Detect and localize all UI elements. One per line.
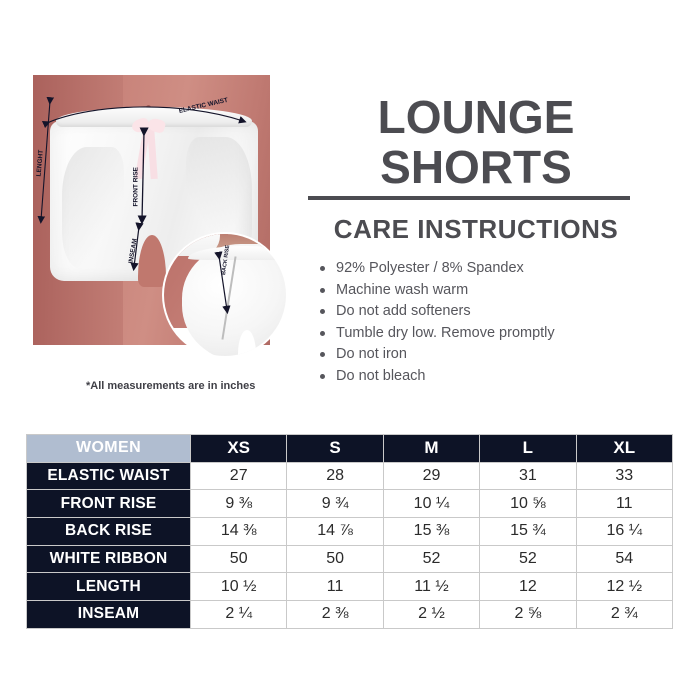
bullet-icon: [320, 331, 325, 336]
care-item-text: Machine wash warm: [336, 282, 468, 298]
table-row: FRONT RISE9 ⅜9 ¾10 ¼10 ⅝11: [27, 490, 673, 518]
cell-xl: 2 ¾: [576, 601, 672, 629]
back-rise-inset: BACK RISE: [164, 234, 286, 356]
cell-m: 15 ⅜: [383, 518, 479, 546]
row-header-back-rise: BACK RISE: [27, 518, 191, 546]
bullet-icon: [320, 374, 325, 379]
cell-xs: 10 ½: [191, 573, 287, 601]
cell-s: 11: [287, 573, 383, 601]
list-item: 92% Polyester / 8% Spandex: [318, 258, 658, 280]
row-header-elastic-waist: ELASTIC WAIST: [27, 462, 191, 490]
cell-xl: 33: [576, 462, 672, 490]
cell-l: 12: [480, 573, 576, 601]
bullet-icon: [320, 288, 325, 293]
table-row: INSEAM2 ¼2 ⅜2 ½2 ⅝2 ¾: [27, 601, 673, 629]
cell-xl: 12 ½: [576, 573, 672, 601]
cell-xs: 2 ¼: [191, 601, 287, 629]
row-header-length: LENGTH: [27, 573, 191, 601]
cell-xl: 11: [576, 490, 672, 518]
cell-xs: 50: [191, 545, 287, 573]
table-row: BACK RISE14 ⅜14 ⅞15 ⅜15 ¾16 ¼: [27, 518, 673, 546]
title-divider: [308, 196, 630, 200]
cell-m: 10 ¼: [383, 490, 479, 518]
size-chart-page: ELASTIC WAIST LENGHT FRONT RISE INSEAM B…: [0, 0, 700, 700]
cell-xl: 16 ¼: [576, 518, 672, 546]
cell-m: 29: [383, 462, 479, 490]
page-title-line2: SHORTS: [300, 142, 652, 192]
annotation-label-front-rise: FRONT RISE: [133, 167, 140, 206]
row-header-front-rise: FRONT RISE: [27, 490, 191, 518]
cell-l: 52: [480, 545, 576, 573]
list-item: Do not bleach: [318, 366, 658, 388]
cell-s: 50: [287, 545, 383, 573]
care-instructions-heading: CARE INSTRUCTIONS: [300, 214, 652, 245]
title-block: LOUNGE SHORTS: [300, 92, 652, 192]
column-header-m: M: [383, 435, 479, 463]
care-instructions-list: 92% Polyester / 8% Spandex Machine wash …: [318, 258, 658, 387]
cell-l: 31: [480, 462, 576, 490]
row-header-white-ribbon: WHITE RIBBON: [27, 545, 191, 573]
bullet-icon: [320, 352, 325, 357]
column-header-s: S: [287, 435, 383, 463]
bullet-icon: [320, 309, 325, 314]
cell-l: 10 ⅝: [480, 490, 576, 518]
table-row: LENGTH10 ½1111 ½1212 ½: [27, 573, 673, 601]
care-item-text: Do not iron: [336, 346, 407, 362]
care-item-text: Tumble dry low. Remove promptly: [336, 325, 555, 341]
table-body: ELASTIC WAIST2728293133FRONT RISE9 ⅜9 ¾1…: [27, 462, 673, 628]
cell-xs: 27: [191, 462, 287, 490]
table-corner-label: WOMEN: [27, 435, 191, 463]
cell-l: 2 ⅝: [480, 601, 576, 629]
cell-xl: 54: [576, 545, 672, 573]
table-row: WHITE RIBBON5050525254: [27, 545, 673, 573]
cell-s: 2 ⅜: [287, 601, 383, 629]
cell-s: 28: [287, 462, 383, 490]
list-item: Machine wash warm: [318, 280, 658, 302]
row-header-inseam: INSEAM: [27, 601, 191, 629]
page-title-line1: LOUNGE: [300, 92, 652, 142]
cell-m: 11 ½: [383, 573, 479, 601]
size-chart-table: WOMEN XS S M L XL ELASTIC WAIST272829313…: [26, 434, 673, 629]
cell-s: 9 ¾: [287, 490, 383, 518]
cell-m: 2 ½: [383, 601, 479, 629]
care-item-text: Do not bleach: [336, 368, 425, 384]
cell-s: 14 ⅞: [287, 518, 383, 546]
column-header-xs: XS: [191, 435, 287, 463]
cell-xs: 9 ⅜: [191, 490, 287, 518]
cell-xs: 14 ⅜: [191, 518, 287, 546]
cell-m: 52: [383, 545, 479, 573]
measurement-footnote: *All measurements are in inches: [86, 380, 255, 392]
list-item: Do not iron: [318, 344, 658, 366]
table-header-row: WOMEN XS S M L XL: [27, 435, 673, 463]
table-row: ELASTIC WAIST2728293133: [27, 462, 673, 490]
bullet-icon: [320, 266, 325, 271]
care-item-text: 92% Polyester / 8% Spandex: [336, 260, 524, 276]
column-header-xl: XL: [576, 435, 672, 463]
list-item: Do not add softeners: [318, 301, 658, 323]
list-item: Tumble dry low. Remove promptly: [318, 323, 658, 345]
column-header-l: L: [480, 435, 576, 463]
cell-l: 15 ¾: [480, 518, 576, 546]
care-item-text: Do not add softeners: [336, 303, 471, 319]
